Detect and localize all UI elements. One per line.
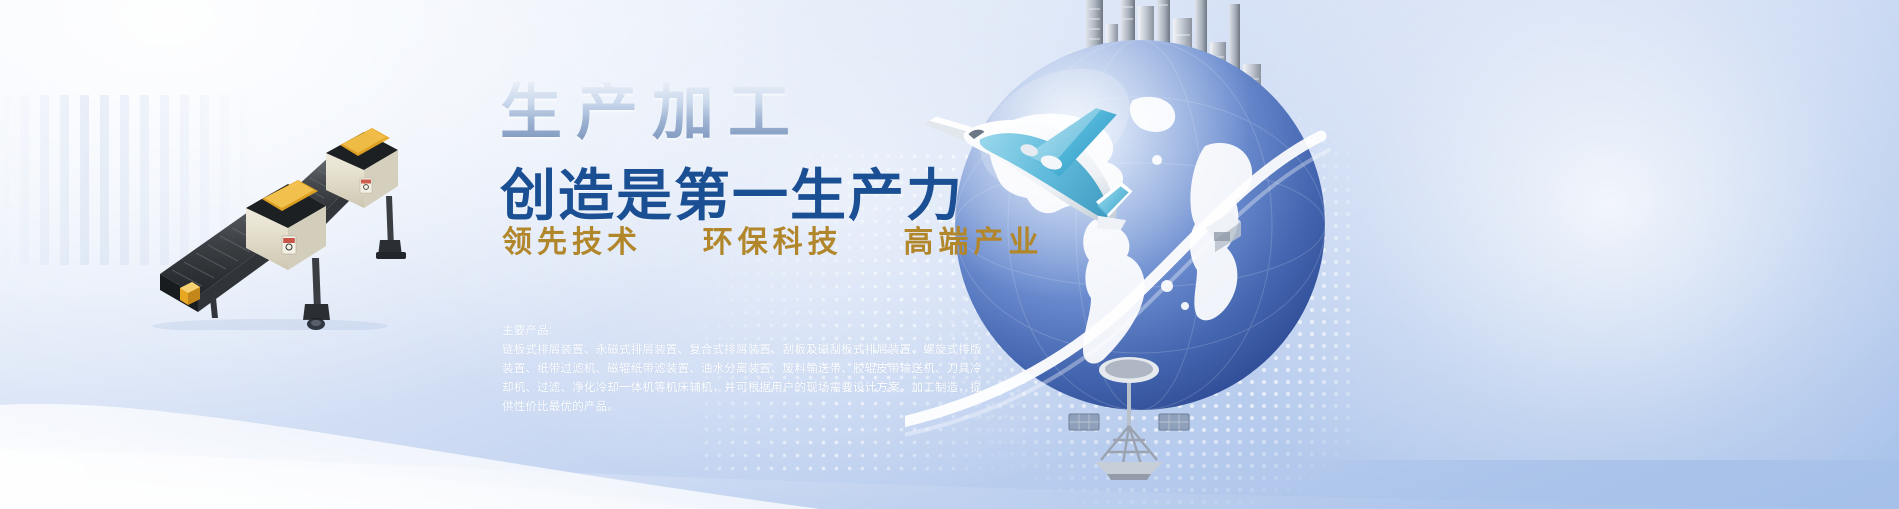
banner-subheadline: 创造是第一生产力 [500, 168, 964, 224]
product-description-line: 却机、过滤、净化冷却一体机等机床辅机，并可根据用户的现场需要设计方案，加工制造，… [502, 379, 1116, 398]
banner-tagline: 领先技术 环保科技 高端产业 [502, 228, 1043, 258]
tagline-item-1: 领先技术 [502, 228, 642, 258]
product-description-line: 链板式排屑装置、永磁式排屑装置、复合式排屑装置、刮板及磁刮板式排屑装置、螺旋式排… [502, 341, 1116, 360]
product-description-line: 装置、纸带过滤机、磁辊纸带滤装置、油水分离装置、废料输送带、胶辊皮带输送机、刀具… [502, 360, 1116, 379]
tagline-item-3: 高端产业 [903, 228, 1043, 258]
product-description-lead: 主要产品: [502, 322, 1116, 341]
industrial-chip-conveyor-machines-icon [150, 120, 480, 330]
tagline-item-2: 环保科技 [703, 228, 843, 258]
banner-headline: 生产加工 [500, 82, 804, 144]
product-description: 主要产品: 链板式排屑装置、永磁式排屑装置、复合式排屑装置、刮板及磁刮板式排屑装… [502, 322, 1116, 417]
promo-banner: 生产加工 创造是第一生产力 领先技术 环保科技 高端产业 主要产品: 链板式排屑… [0, 0, 1899, 509]
product-description-line: 供性价比最优的产品。 [502, 398, 1116, 417]
